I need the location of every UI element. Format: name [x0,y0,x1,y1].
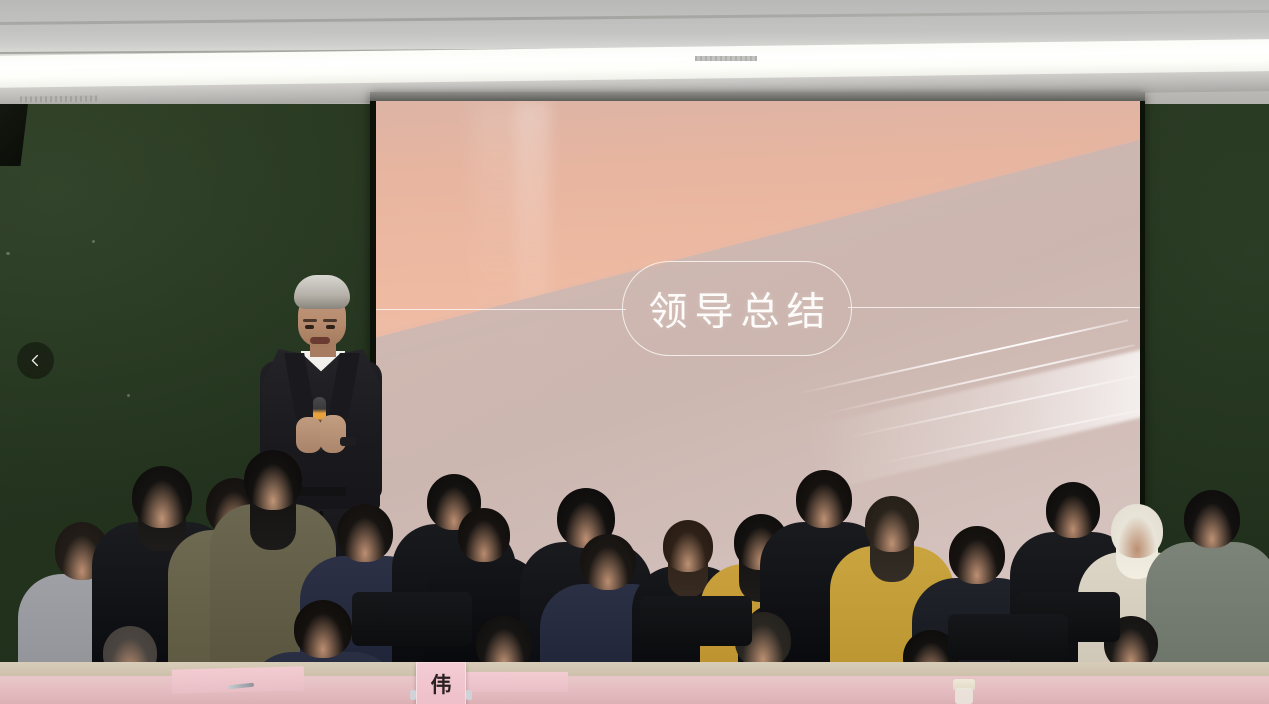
name-placard: 伟 [416,662,466,704]
chair-back [352,592,472,646]
audience-member-head [580,534,636,590]
audience-member-head [865,496,919,552]
slide-title-text: 领导总结 [641,281,832,337]
name-placard-text: 伟 [431,669,452,699]
projection-screen-top-rail [370,92,1145,101]
presenter-mouth [310,337,330,344]
table-paper [448,672,568,692]
previous-image-button[interactable] [17,342,54,379]
slide-hairline-left [376,309,626,310]
wall-speck [92,240,95,243]
table-paper [172,666,305,693]
audience-member-head [949,526,1005,584]
audience-member-head [244,450,302,510]
wall-speck [6,252,10,255]
name-placard-foot [410,690,416,700]
slide-title-pill: 领导总结 [622,261,852,356]
presenter-brow-right [323,319,337,322]
name-placard-foot [466,690,472,700]
presenter-hair [294,275,350,309]
presenter-brow-left [303,319,317,322]
image-viewer: 领导总结 伟 [0,0,1269,704]
ceiling-vent-left [20,95,98,102]
presenter-eye-right [326,325,335,329]
audience-member-head [458,508,510,562]
slide-hairline-right [848,307,1140,308]
chair-back [640,596,752,646]
presenter-eye-left [305,325,314,329]
audience-member-head [294,600,352,658]
chair-back [948,614,1068,660]
audience-member-head [1184,490,1240,548]
bottle-body [955,688,973,704]
wall-speck [127,394,130,397]
audience-member-head [337,504,393,562]
ceiling-vent-center [695,56,757,61]
chevron-left-icon [28,353,43,368]
